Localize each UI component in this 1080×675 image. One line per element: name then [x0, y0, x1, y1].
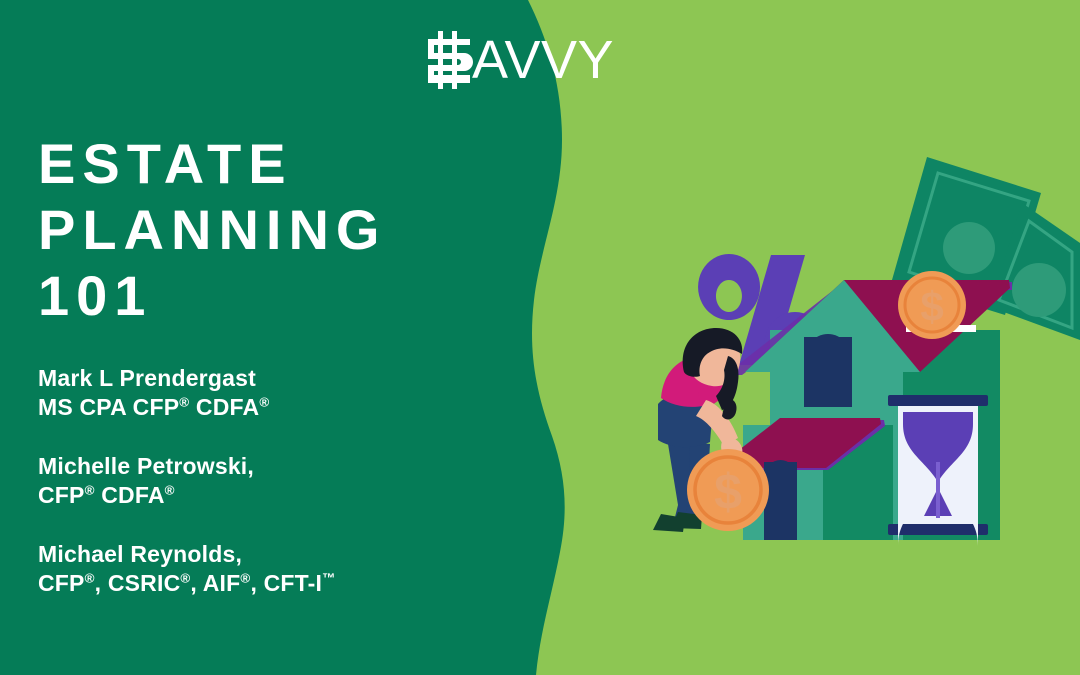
cred-part: MS CPA CFP — [38, 394, 179, 420]
speaker-name: Michael Reynolds, — [38, 540, 336, 569]
title-line-3: 101 — [38, 263, 386, 329]
speaker-credentials: MS CPA CFP® CDFA® — [38, 393, 336, 422]
registered-mark: ® — [85, 571, 95, 586]
slide-canvas: $ — [0, 0, 1080, 675]
trademark-mark: ™ — [322, 571, 336, 586]
cred-part: CDFA — [189, 394, 259, 420]
cred-part: CFP — [38, 570, 85, 596]
title-line-2: PLANNING — [38, 197, 386, 263]
cred-part: , CSRIC — [95, 570, 181, 596]
cred-part: CDFA — [95, 482, 165, 508]
speaker-item: Michael Reynolds, CFP®, CSRIC®, AIF®, CF… — [38, 540, 336, 599]
speaker-name: Michelle Petrowski, — [38, 452, 336, 481]
speaker-item: Michelle Petrowski, CFP® CDFA® — [38, 452, 336, 511]
speaker-list: Mark L Prendergast MS CPA CFP® CDFA® Mic… — [38, 364, 336, 599]
registered-mark: ® — [165, 483, 175, 498]
speaker-name: Mark L Prendergast — [38, 364, 336, 393]
registered-mark: ® — [240, 571, 250, 586]
registered-mark: ® — [85, 483, 95, 498]
speaker-credentials: CFP® CDFA® — [38, 481, 336, 510]
cred-part: CFP — [38, 482, 85, 508]
registered-mark: ® — [179, 395, 189, 410]
savvy-logo[interactable]: AVVY — [424, 29, 654, 91]
registered-mark: ® — [180, 571, 190, 586]
page-title: ESTATE PLANNING 101 — [38, 131, 386, 329]
title-line-1: ESTATE — [38, 131, 386, 197]
registered-mark: ® — [259, 395, 269, 410]
dollar-s-icon — [424, 31, 474, 89]
logo-wordmark: AVVY — [472, 33, 614, 87]
speaker-credentials: CFP®, CSRIC®, AIF®, CFT-I™ — [38, 569, 336, 598]
speaker-item: Mark L Prendergast MS CPA CFP® CDFA® — [38, 364, 336, 423]
cred-part: , CFT-I — [250, 570, 322, 596]
cred-part: , AIF — [190, 570, 240, 596]
